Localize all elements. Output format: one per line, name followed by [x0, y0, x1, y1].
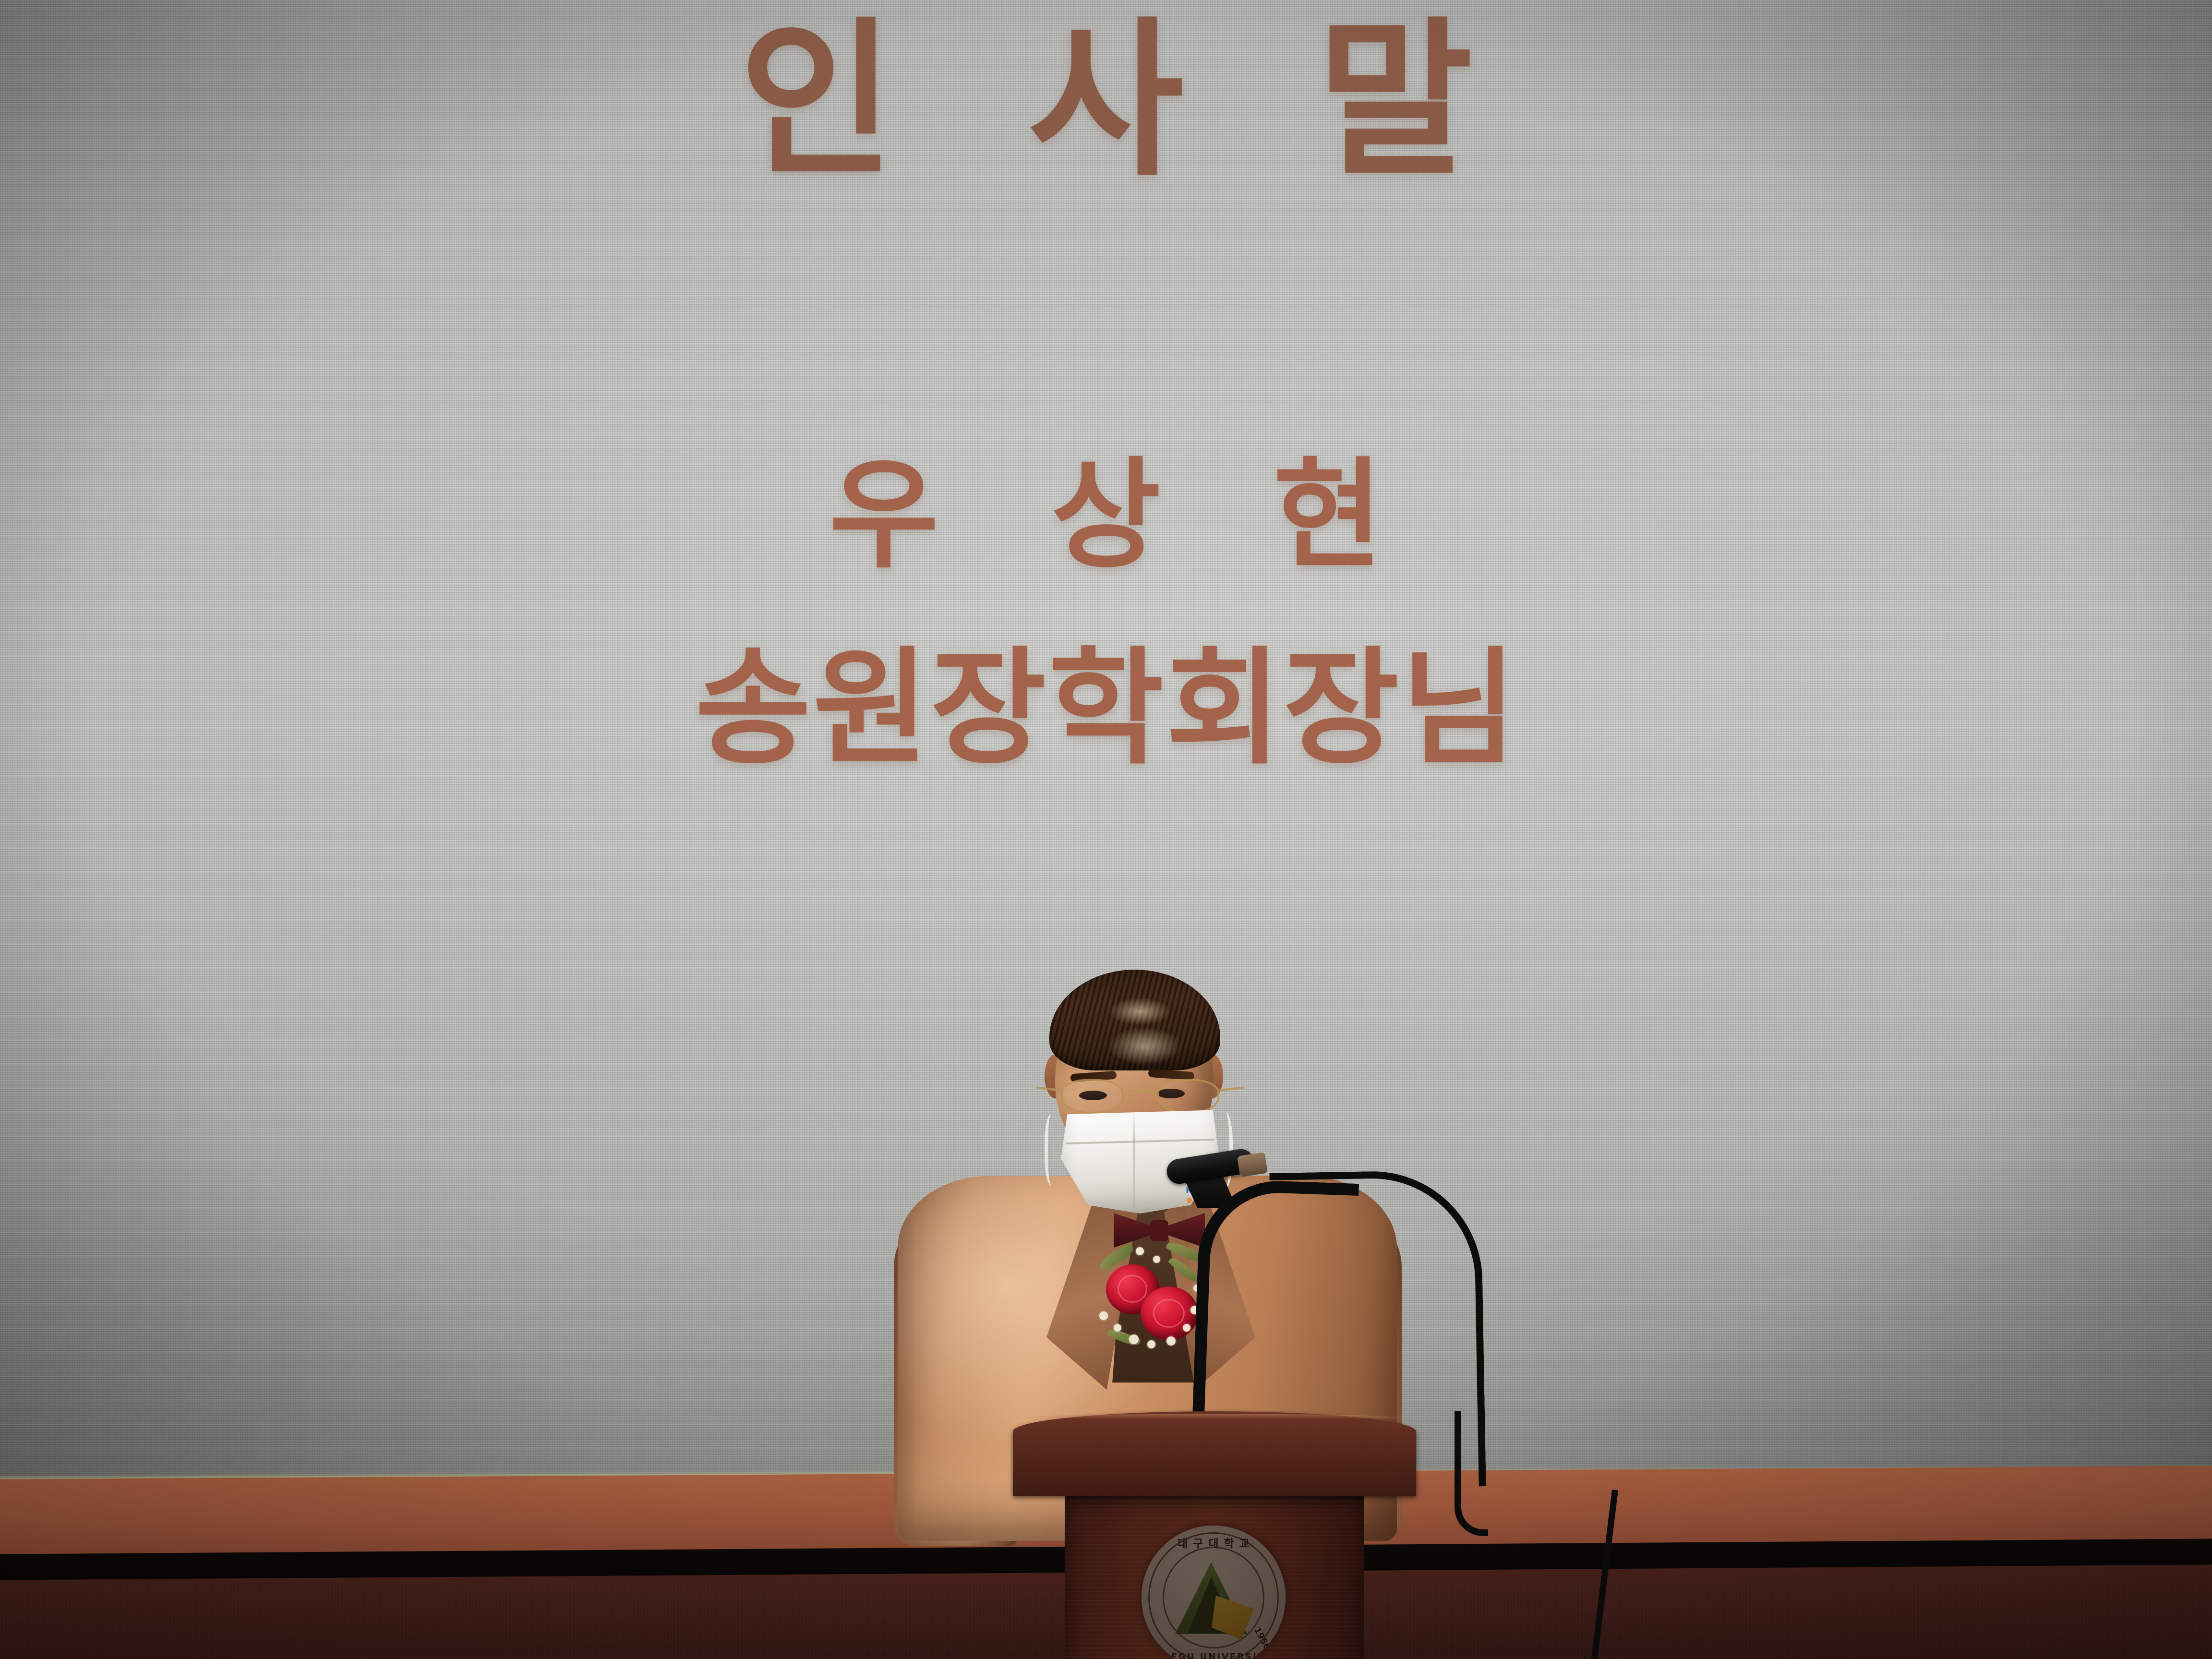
rose-petal-swirl — [1118, 1275, 1147, 1303]
slide-speaker-role: 송원장학회장님 — [0, 646, 2212, 771]
microphone-collar-band — [1237, 1152, 1268, 1178]
eyeglass-lens-right — [1157, 1079, 1219, 1114]
eyeglass-temple-right — [1218, 1086, 1244, 1092]
babys-breath-bud — [1147, 1340, 1155, 1348]
babys-breath-bud — [1129, 1334, 1139, 1344]
forehead-highlight — [1109, 1027, 1181, 1065]
hair-highlight — [1109, 998, 1171, 1025]
microphone-cable-tail — [1591, 1490, 1755, 1659]
slide-title: 인 사 말 — [0, 16, 2212, 185]
podium-desktop — [1013, 1411, 1416, 1496]
eyeglass-lens-left — [1061, 1079, 1123, 1114]
microphone-cable-lower — [1455, 1411, 1488, 1536]
eyeglasses — [1061, 1079, 1219, 1116]
mask-ear-loop-left — [1045, 1114, 1062, 1186]
podium: 대구대학교 DAEGU UNIVERSITY 1956 — [1013, 1411, 1416, 1659]
photo-canvas: 인 사 말 우 상 현 송원장학회장님 — [0, 0, 2212, 1659]
babys-breath-bud — [1136, 1247, 1144, 1255]
podium-desktop-highlight — [1020, 1414, 1409, 1419]
mask-center-ridge — [1133, 1112, 1135, 1208]
babys-breath-bud — [1099, 1311, 1108, 1320]
babys-breath-bud — [1114, 1324, 1121, 1332]
babys-breath-bud — [1153, 1256, 1160, 1263]
eyeglass-bridge — [1123, 1090, 1157, 1092]
university-seal: 대구대학교 DAEGU UNIVERSITY 1956 — [1142, 1526, 1286, 1659]
slide-speaker-name: 우 상 현 — [0, 456, 2212, 575]
